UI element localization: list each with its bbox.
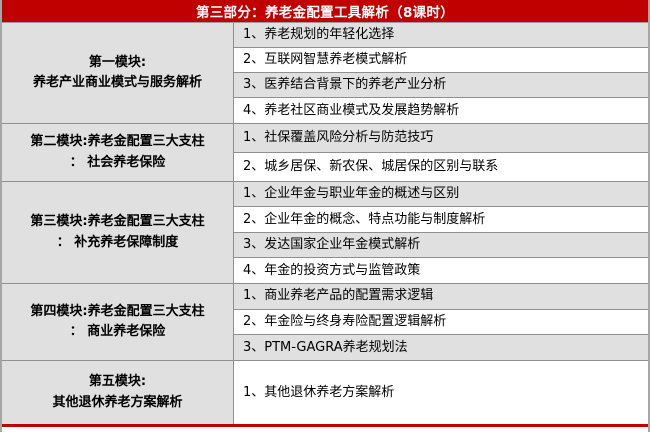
module-title-cell-5: 第五模块: 其他退休养老方案解析	[2, 361, 234, 424]
module-title-1: 第一模块: 养老产业商业模式与服务解析	[33, 53, 202, 93]
lesson-item[interactable]: 1、养老规划的年轻化选择	[234, 23, 648, 48]
module-title-line2: 养老产业商业模式与服务解析	[33, 75, 202, 90]
lesson-item[interactable]: 4、养老社区商业模式及发展趋势解析	[234, 98, 648, 123]
module-title-3: 第三模块:养老金配置三大支柱 ： 补充养老保障制度	[30, 212, 204, 252]
module-items-cell-3: 1、企业年金与职业年金的概述与区别 2、企业年金的概念、特点功能与制度解析 3、…	[234, 182, 648, 283]
lesson-item[interactable]: 4、年金的投资方式与监管政策	[234, 258, 648, 283]
module-title-line1: 第五模块:	[89, 374, 146, 389]
lesson-item[interactable]: 3、PTM-GAGRA养老规划法	[234, 335, 648, 360]
module-row: 第四模块:养老金配置三大支柱 ： 商业养老保险 1、商业养老产品的配置需求逻辑 …	[2, 284, 648, 361]
module-items-cell-4: 1、商业养老产品的配置需求逻辑 2、年金险与终身寿险配置逻辑解析 3、PTM-G…	[234, 284, 648, 360]
module-title-line2: ： 商业养老保险	[70, 324, 166, 339]
curriculum-table: 第三部分：养老金配置工具解析（8课时） 第一模块: 养老产业商业模式与服务解析 …	[0, 0, 650, 432]
module-title-cell-3: 第三模块:养老金配置三大支柱 ： 补充养老保障制度	[2, 182, 234, 283]
lesson-item[interactable]: 2、年金险与终身寿险配置逻辑解析	[234, 310, 648, 336]
lesson-item[interactable]: 3、医养结合背景下的养老产业分析	[234, 73, 648, 98]
module-title-line2: 其他退休养老方案解析	[52, 395, 182, 410]
module-title-line1: 第一模块:	[89, 55, 146, 70]
module-title-line1: 第四模块:养老金配置三大支柱	[30, 304, 204, 319]
module-title-5: 第五模块: 其他退休养老方案解析	[52, 372, 182, 412]
module-title-cell-1: 第一模块: 养老产业商业模式与服务解析	[2, 23, 234, 123]
page-title: 第三部分：养老金配置工具解析（8课时）	[196, 1, 454, 21]
lesson-item[interactable]: 1、其他退休养老方案解析	[234, 361, 648, 424]
lesson-item[interactable]: 1、企业年金与职业年金的概述与区别	[234, 182, 648, 207]
curriculum-body: 第一模块: 养老产业商业模式与服务解析 1、养老规划的年轻化选择 2、互联网智慧…	[2, 23, 648, 427]
module-row: 第二模块:养老金配置三大支柱 ： 社会养老保险 1、社保覆盖风险分析与防范技巧 …	[2, 124, 648, 182]
module-title-cell-2: 第二模块:养老金配置三大支柱 ： 社会养老保险	[2, 124, 234, 181]
module-row: 第五模块: 其他退休养老方案解析 1、其他退休养老方案解析	[2, 361, 648, 424]
module-items-cell-5: 1、其他退休养老方案解析	[234, 361, 648, 424]
module-title-line2: ： 补充养老保障制度	[57, 235, 179, 250]
module-items-cell-1: 1、养老规划的年轻化选择 2、互联网智慧养老模式解析 3、医养结合背景下的养老产…	[234, 23, 648, 123]
module-title-cell-4: 第四模块:养老金配置三大支柱 ： 商业养老保险	[2, 284, 234, 360]
lesson-item[interactable]: 1、社保覆盖风险分析与防范技巧	[234, 124, 648, 153]
module-items-cell-2: 1、社保覆盖风险分析与防范技巧 2、城乡居保、新农保、城居保的区别与联系	[234, 124, 648, 181]
module-title-2: 第二模块:养老金配置三大支柱 ： 社会养老保险	[30, 132, 204, 172]
lesson-item[interactable]: 3、发达国家企业年金模式解析	[234, 233, 648, 258]
lesson-item[interactable]: 2、城乡居保、新农保、城居保的区别与联系	[234, 153, 648, 181]
lesson-item[interactable]: 1、商业养老产品的配置需求逻辑	[234, 284, 648, 310]
module-title-4: 第四模块:养老金配置三大支柱 ： 商业养老保险	[30, 302, 204, 342]
lesson-item[interactable]: 2、企业年金的概念、特点功能与制度解析	[234, 207, 648, 232]
module-title-line1: 第三模块:养老金配置三大支柱	[30, 214, 204, 229]
module-row: 第三模块:养老金配置三大支柱 ： 补充养老保障制度 1、企业年金与职业年金的概述…	[2, 182, 648, 284]
lesson-item[interactable]: 2、互联网智慧养老模式解析	[234, 48, 648, 73]
module-title-line2: ： 社会养老保险	[70, 155, 166, 170]
section-title-bar: 第三部分：养老金配置工具解析（8课时）	[2, 0, 648, 23]
module-title-line1: 第二模块:养老金配置三大支柱	[30, 134, 204, 149]
module-row: 第一模块: 养老产业商业模式与服务解析 1、养老规划的年轻化选择 2、互联网智慧…	[2, 23, 648, 124]
